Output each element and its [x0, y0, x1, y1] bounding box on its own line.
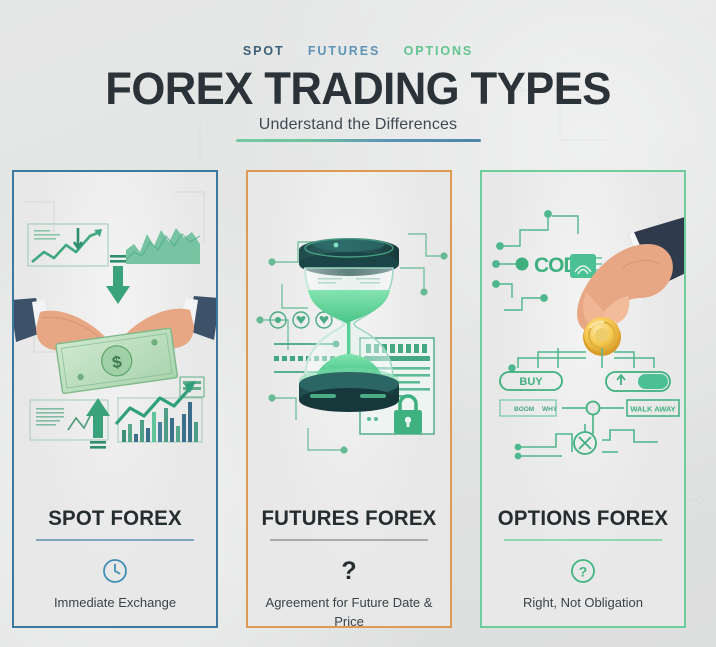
- card-caption-spot: Immediate Exchange: [22, 593, 208, 612]
- bar-chart-panel: [116, 381, 202, 442]
- x-circle-icon: [574, 432, 596, 454]
- svg-text:BUY: BUY: [519, 376, 543, 388]
- card-caption-options: Right, Not Obligation: [490, 593, 676, 612]
- card-title-options: OPTIONS FOREX: [487, 506, 679, 531]
- illustration-options: CODE: [482, 172, 684, 472]
- badge-spot: [14, 558, 216, 584]
- question-circle-icon: ?: [570, 558, 596, 584]
- label-right: WHY: [542, 406, 558, 413]
- card-spot-forex: $: [12, 170, 218, 628]
- card-divider-options: [504, 539, 662, 541]
- slider-control: [562, 402, 624, 435]
- eyebrow-spot: SPOT: [243, 44, 285, 58]
- card-caption-futures: Agreement for Future Date & Price: [256, 593, 442, 628]
- illustration-futures: [248, 172, 450, 472]
- toggle-switch: [606, 372, 670, 391]
- illustration-spot: $: [14, 172, 216, 472]
- buy-button: BUY: [500, 372, 562, 390]
- three-status-icons: [270, 312, 332, 328]
- node-dot: [516, 258, 529, 271]
- eyebrow-futures: FUTURES: [308, 44, 380, 58]
- card-title-futures: FUTURES FOREX: [253, 506, 445, 531]
- small-labels: BOOM WHY: [500, 400, 558, 416]
- label-left: BOOM: [514, 406, 534, 413]
- page-title: FOREX TRADING TYPES: [11, 63, 706, 115]
- card-options-forex: CODE: [480, 170, 686, 628]
- badge-futures: ?: [248, 558, 450, 584]
- page-subtitle: Understand the Differences: [0, 116, 716, 134]
- bus-lines: [509, 348, 654, 371]
- card-divider-spot: [36, 539, 194, 541]
- infographic-root: SPOT FUTURES OPTIONS FOREX TRADING TYPES…: [0, 0, 716, 647]
- title-divider: [236, 139, 481, 142]
- svg-text:?: ?: [579, 564, 588, 580]
- eyebrow-options: OPTIONS: [404, 44, 474, 58]
- hourglass: [299, 238, 399, 412]
- svg-text:WALK AWAY: WALK AWAY: [630, 405, 675, 414]
- area-chart-panel: [126, 228, 200, 264]
- clock-icon: [102, 558, 128, 584]
- card-futures-forex: FUTURES FOREX ? Agreement for Future Dat…: [246, 170, 452, 628]
- line-chart-panel: [28, 224, 108, 266]
- card-divider-futures: [270, 539, 428, 541]
- card-title-spot: SPOT FOREX: [19, 506, 211, 531]
- walk-away-button: WALK AWAY: [627, 400, 679, 416]
- eyebrow-nav: SPOT FUTURES OPTIONS: [0, 44, 716, 58]
- question-mark-icon: ?: [341, 558, 356, 584]
- up-arrow: [86, 398, 110, 449]
- badge-options: ?: [482, 558, 684, 584]
